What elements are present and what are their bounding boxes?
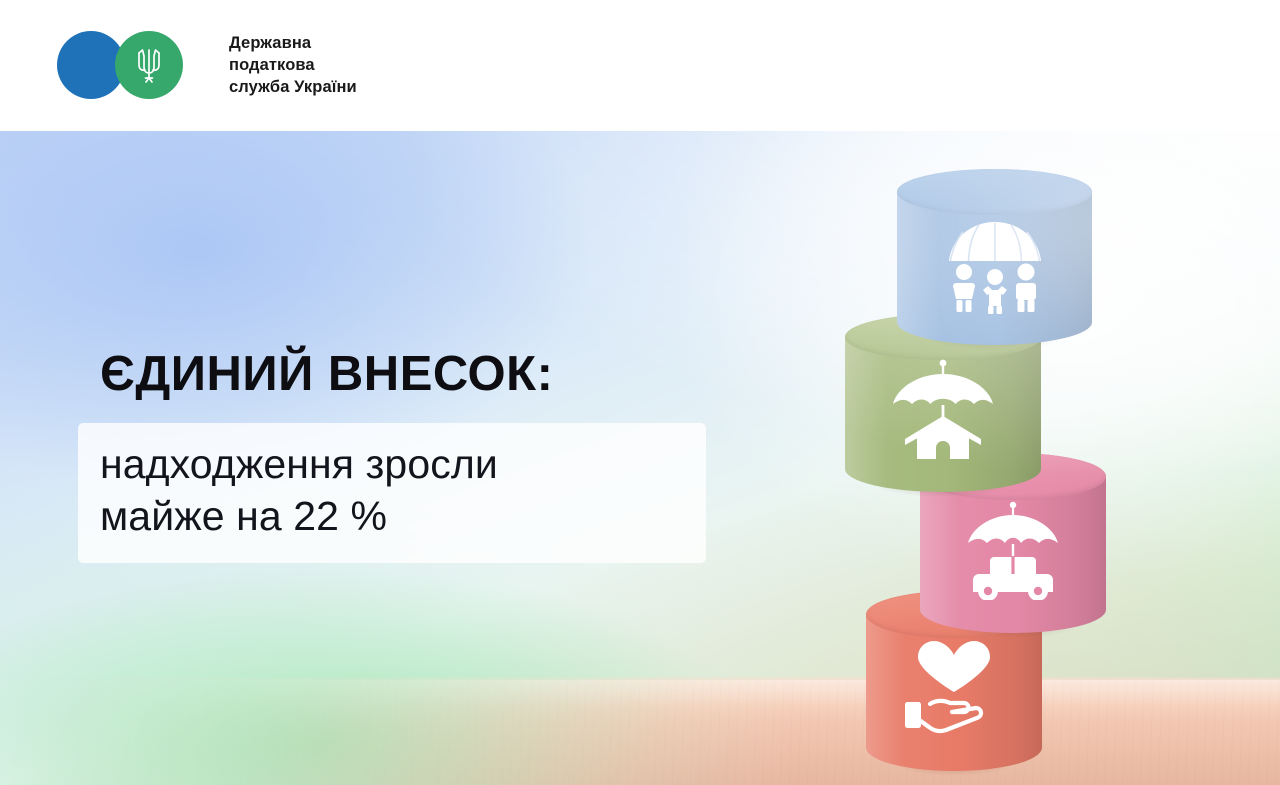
family-under-umbrella-icon (939, 214, 1051, 314)
logo-circles (57, 31, 169, 101)
logo-green-circle (115, 31, 183, 99)
logo-line-1: Державна (229, 33, 357, 55)
subtitle-text: надходження зросли майже на 22 % (78, 439, 498, 546)
header-band: Державна податкова служба України (0, 0, 1280, 131)
page-title: ЄДИНИЙ ВНЕСОК: (100, 350, 553, 399)
block-family (897, 169, 1092, 345)
subtitle-line-1: надходження зросли (100, 439, 498, 491)
umbrella-over-house-icon (887, 358, 999, 462)
subtitle-panel: надходження зросли майже на 22 % (78, 423, 706, 563)
subtitle-line-2: майже на 22 % (100, 491, 498, 543)
poster-canvas: ЄДИНИЙ ВНЕСОК: надходження зросли майже … (0, 0, 1280, 785)
logo-line-2: податкова (229, 55, 357, 77)
umbrella-over-car-icon (957, 500, 1069, 600)
ukraine-trident-icon (134, 46, 164, 84)
logo-wordmark: Державна податкова служба України (229, 33, 357, 98)
organisation-logo[interactable]: Державна податкова служба України (57, 31, 357, 101)
logo-line-3: служба України (229, 77, 357, 99)
block-family-top (897, 169, 1092, 215)
heart-in-hand-icon (900, 638, 1008, 738)
